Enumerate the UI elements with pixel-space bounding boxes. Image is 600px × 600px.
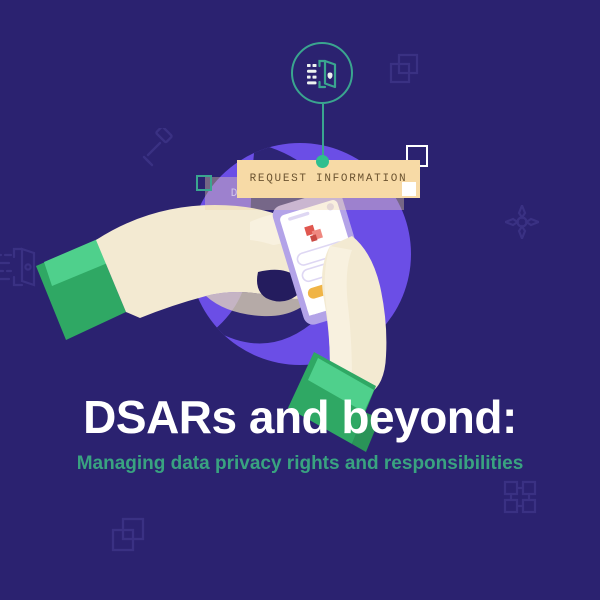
page-title: DSARs and beyond: [0,390,600,444]
poster-canvas: DELETE ALL RECORDS REQUEST INFORMATION D… [0,0,600,600]
white-square-filled-accent [402,182,416,196]
request-information-card[interactable]: REQUEST INFORMATION [237,160,420,198]
green-node-dot [316,155,329,168]
teal-square-accent [196,175,212,191]
request-information-label: REQUEST INFORMATION [250,173,408,185]
title-block: DSARs and beyond: Managing data privacy … [0,390,600,476]
page-subtitle: Managing data privacy rights and respons… [0,452,600,476]
data-export-door-icon [303,55,341,93]
